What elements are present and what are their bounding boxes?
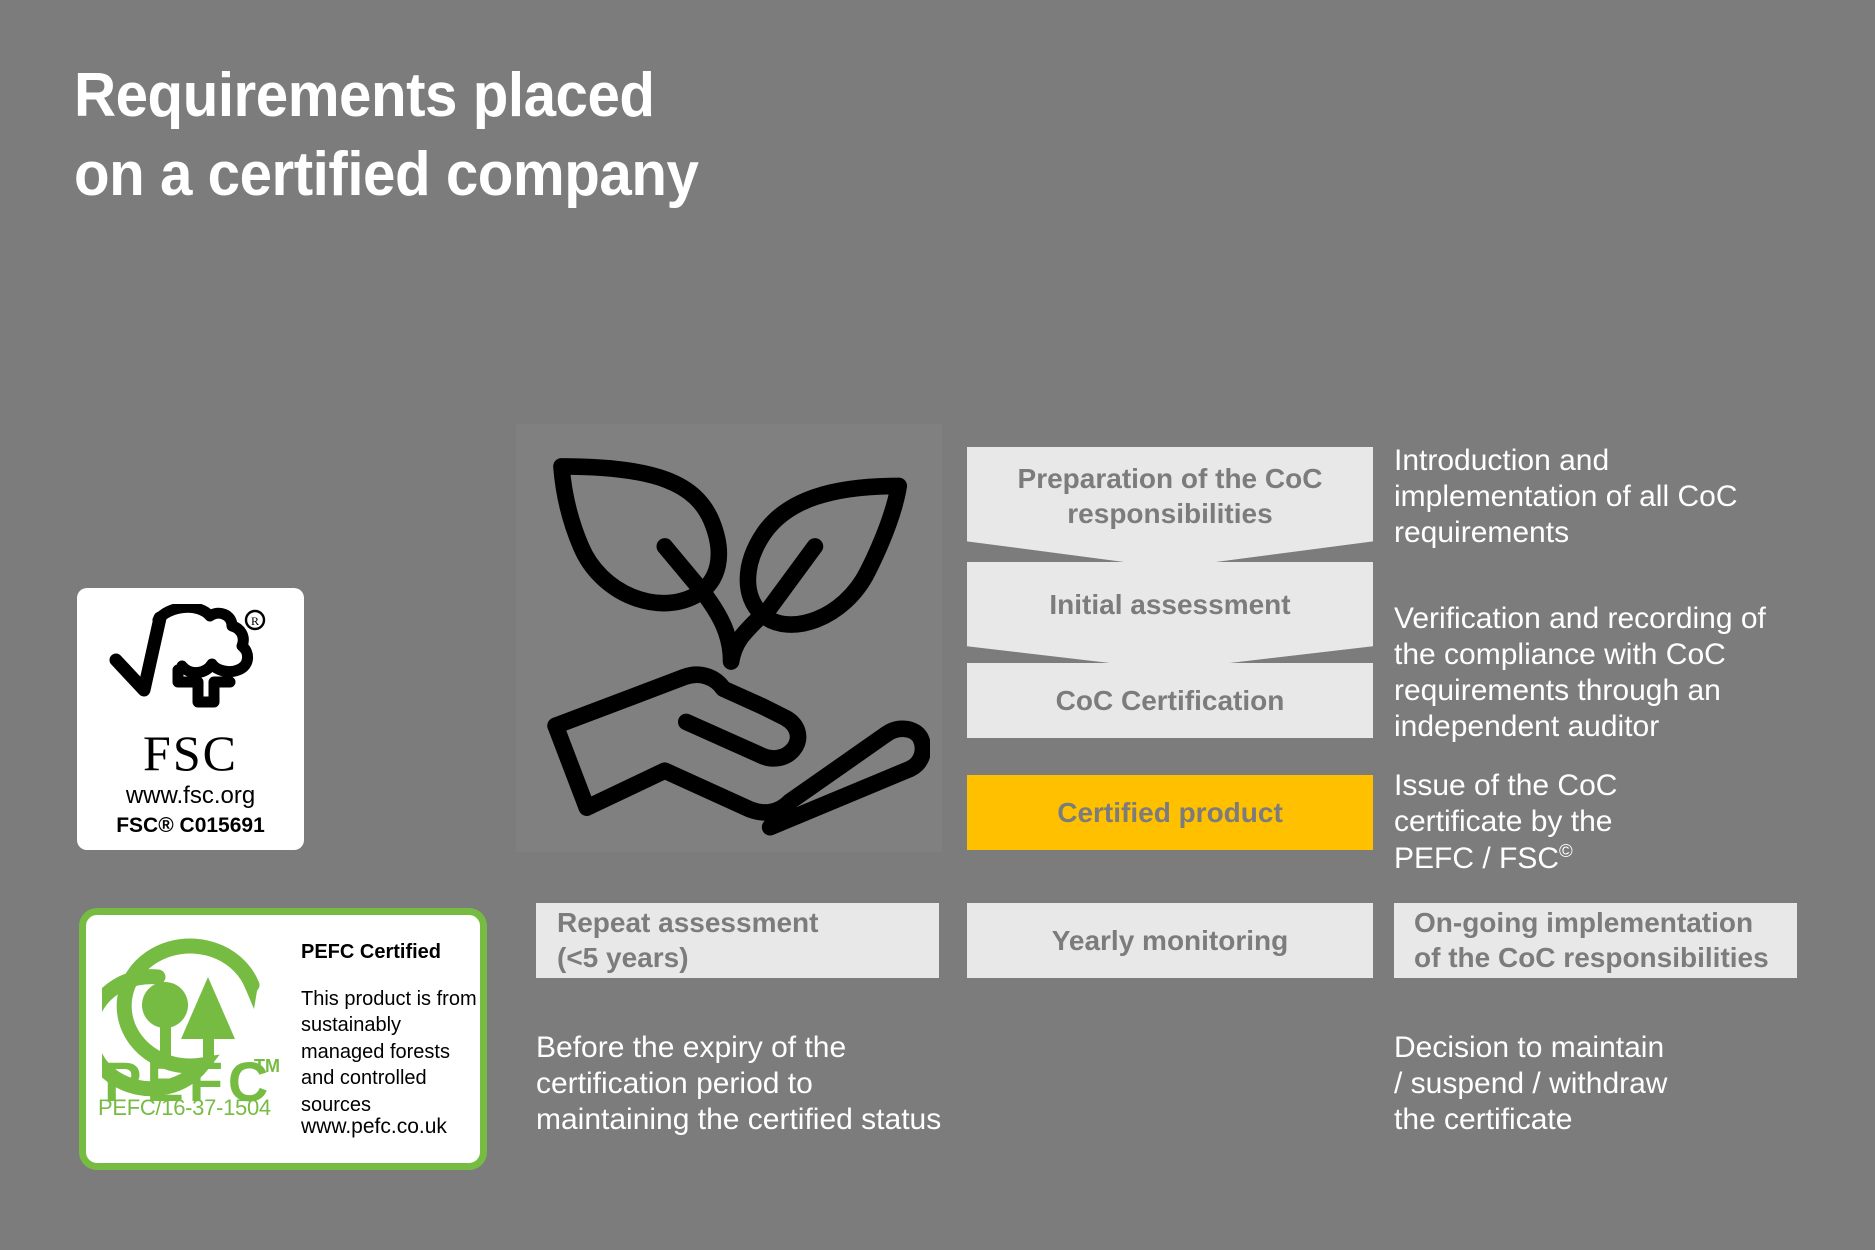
flow-step-preparation-of-coc-responsibilities[interactable]: Preparation of the CoC responsibilities	[967, 447, 1373, 568]
svg-text:R: R	[250, 614, 258, 628]
fsc-certification-label: R FSC www.fsc.org FSC® C015691	[77, 588, 304, 850]
fsc-wordmark: FSC	[77, 728, 304, 778]
pefc-licence-code: PEFC/16-37-1504	[98, 1095, 271, 1121]
pefc-url: www.pefc.co.uk	[301, 1115, 447, 1139]
pefc-certified-heading: PEFC Certified	[301, 941, 481, 964]
flow-step-yearly-monitoring[interactable]: Yearly monitoring	[967, 903, 1373, 978]
copyright-symbol: ©	[1559, 840, 1573, 861]
flow-step-certified-product[interactable]: Certified product	[967, 775, 1373, 850]
page-title: Requirements placed on a certified compa…	[74, 56, 995, 215]
pefc-certification-label: PEFC TM PEFC/16-37-1504 PEFC Certified T…	[79, 908, 487, 1170]
description-introduction: Introduction and implementation of all C…	[1394, 443, 1814, 551]
description-verification: Verification and recording of the compli…	[1394, 601, 1814, 745]
pefc-description: This product is from sustainably managed…	[301, 986, 481, 1118]
svg-text:TM: TM	[254, 1056, 280, 1076]
flow-step-repeat-assessment[interactable]: Repeat assessment (<5 years)	[536, 903, 939, 978]
fsc-licence-code: FSC® C015691	[77, 814, 304, 838]
pefc-text-block: PEFC Certified This product is from sust…	[301, 941, 481, 1118]
description-decision: Decision to maintain / suspend / withdra…	[1394, 1030, 1814, 1138]
fsc-url: www.fsc.org	[77, 782, 304, 810]
description-before-expiry: Before the expiry of the certification p…	[536, 1030, 966, 1138]
description-issue-text: Issue of the CoC certificate by the PEFC…	[1394, 769, 1617, 875]
description-issue-of-certificate: Issue of the CoC certificate by the PEFC…	[1394, 768, 1814, 877]
flow-step-ongoing-implementation[interactable]: On-going implementation of the CoC respo…	[1394, 903, 1797, 978]
flow-step-coc-certification[interactable]: CoC Certification	[967, 663, 1373, 738]
fsc-tree-checkmark-icon: R	[77, 604, 304, 730]
plant-in-hand-icon	[540, 440, 930, 840]
flow-step-initial-assessment[interactable]: Initial assessment	[967, 562, 1373, 670]
